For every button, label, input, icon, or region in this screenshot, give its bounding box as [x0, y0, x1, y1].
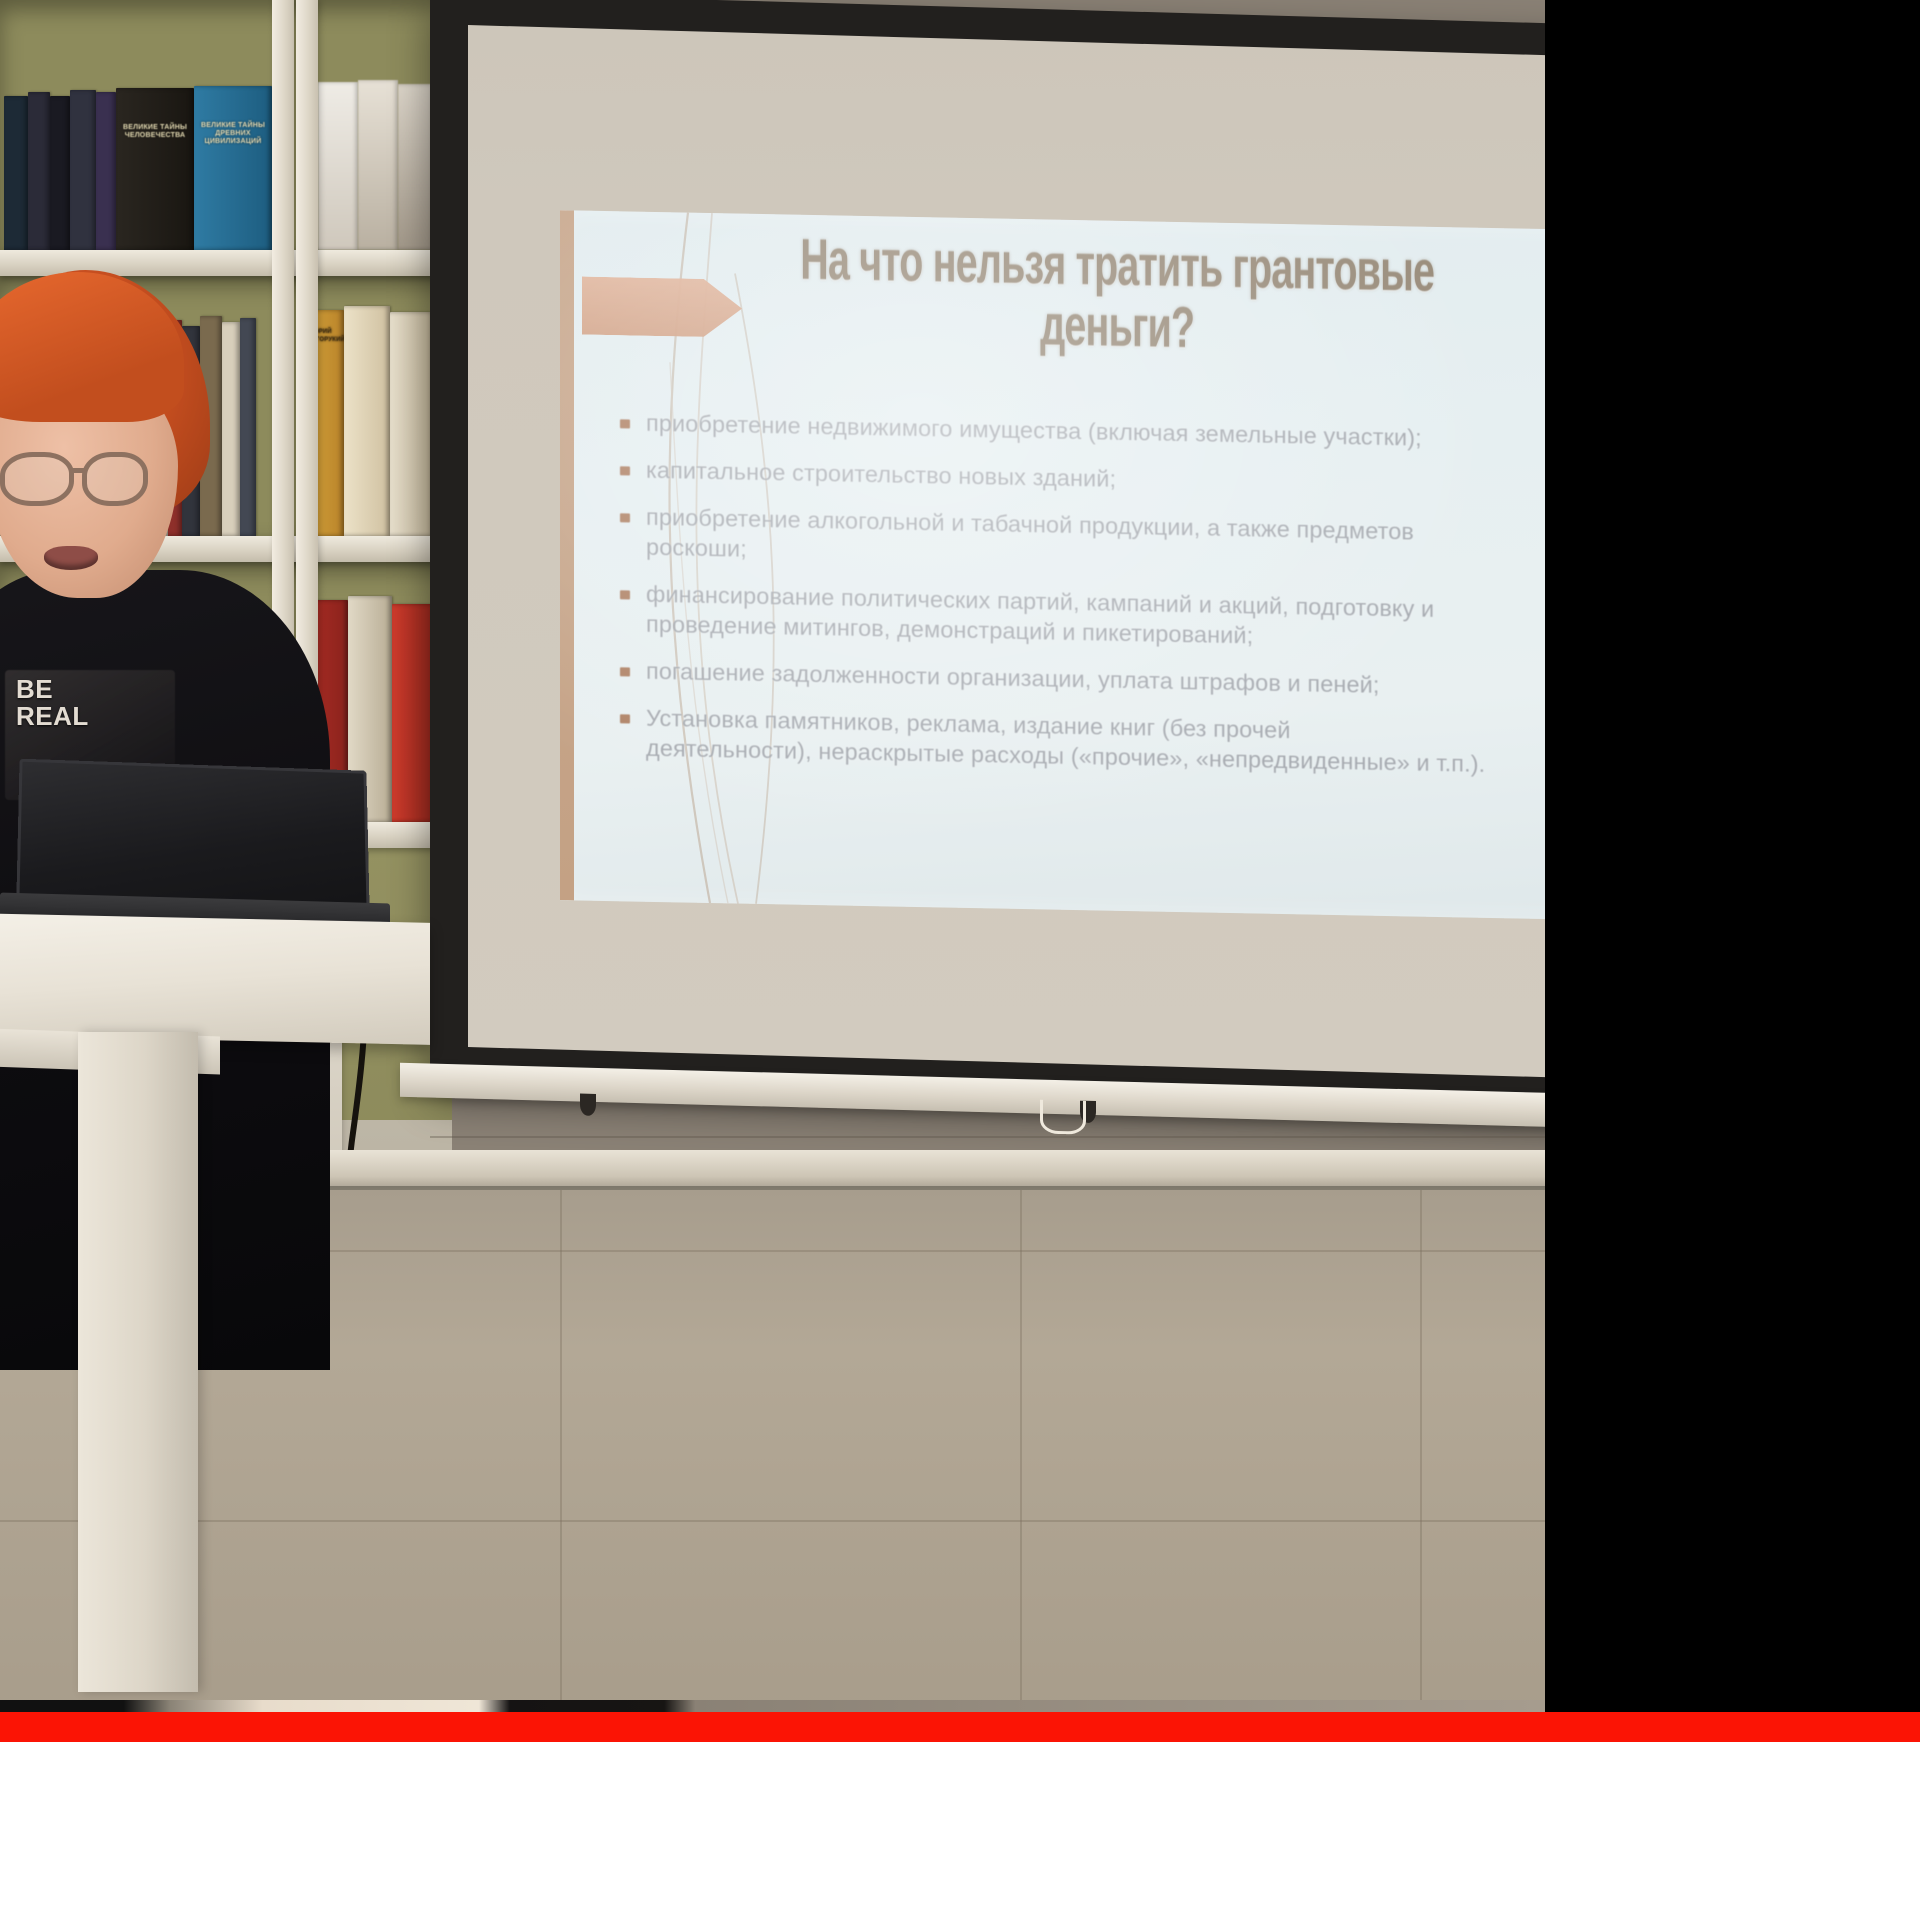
- book-spine-label: ВЕЛИКИЕ ТАЙНЫ ДРЕВНИХ ЦИВИЛИЗАЦИЙ: [198, 122, 268, 146]
- magazine: [318, 82, 358, 250]
- book: [50, 96, 70, 250]
- letterbox-right: [1545, 0, 1920, 1712]
- list-item-text: Установка памятников, реклама, издание к…: [646, 705, 1485, 777]
- list-item: Установка памятников, реклама, издание к…: [606, 702, 1545, 781]
- list-item: капитальное строительство новых зданий;: [606, 454, 1545, 503]
- bullet-marker-icon: [620, 466, 630, 475]
- projection-screen: На что нельзя тратить грантовые деньги? …: [430, 0, 1545, 1115]
- book-velikie-tayny-2: ВЕЛИКИЕ ТАЙНЫ ДРЕВНИХ ЦИВИЛИЗАЦИЙ: [194, 86, 272, 250]
- slide-title: На что нельзя тратить грантовые деньги?: [756, 228, 1478, 364]
- projected-slide: На что нельзя тратить грантовые деньги? …: [560, 210, 1545, 920]
- laptop-screen: [16, 759, 369, 911]
- podium-column: [78, 1032, 198, 1692]
- rail-knob: [580, 1094, 596, 1116]
- podium: [0, 770, 480, 1712]
- shirt-text: BE REAL: [16, 676, 89, 730]
- book: [4, 96, 28, 250]
- banner-accent-bar: [0, 1712, 1920, 1742]
- list-item-text: капитальное строительство новых зданий;: [646, 457, 1116, 492]
- bullet-marker-icon: [620, 419, 630, 428]
- speaker-hair-front: [0, 272, 184, 422]
- book: [344, 306, 390, 536]
- book: [70, 90, 96, 250]
- rail-ring: [1040, 1100, 1086, 1135]
- screen-surface: На что нельзя тратить грантовые деньги? …: [468, 25, 1545, 1078]
- bullet-marker-icon: [620, 667, 630, 676]
- slide-bullet-list: приобретение недвижимого имущества (вклю…: [606, 407, 1545, 798]
- podium-top-surface: [0, 913, 430, 1045]
- eyeglass-lens-right: [82, 452, 148, 506]
- book: [390, 312, 434, 536]
- list-item: финансирование политических партий, камп…: [606, 578, 1545, 657]
- list-item: приобретение алкогольной и табачной прод…: [606, 501, 1545, 580]
- book: [96, 92, 116, 250]
- bullet-marker-icon: [620, 590, 630, 599]
- magazine: [398, 84, 434, 250]
- book-velikie-tayny-1: ВЕЛИКИЕ ТАЙНЫ ЧЕЛОВЕЧЕСТВА: [116, 88, 194, 250]
- list-item-text: погашение задолженности организации, упл…: [646, 658, 1380, 698]
- banner-background: А СЕЛЬСКИХ ИНИЦИАТИВ: [0, 1742, 1920, 1920]
- list-item: погашение задолженности организации, упл…: [606, 655, 1545, 704]
- speaker-mouth: [44, 546, 98, 570]
- book: [28, 92, 50, 250]
- book-spine-label: ВЕЛИКИЕ ТАЙНЫ ЧЕЛОВЕЧЕСТВА: [120, 124, 190, 140]
- list-item-text: приобретение алкогольной и табачной прод…: [646, 504, 1414, 562]
- list-item-text: финансирование политических партий, камп…: [646, 581, 1434, 649]
- eyeglass-lens-left: [0, 452, 74, 506]
- screenshot-root: ВЕЛИКИЕ ТАЙНЫ ЧЕЛОВЕЧЕСТВА ВЕЛИКИЕ ТАЙНЫ…: [0, 0, 1920, 1920]
- video-frame: ВЕЛИКИЕ ТАЙНЫ ЧЕЛОВЕЧЕСТВА ВЕЛИКИЕ ТАЙНЫ…: [0, 0, 1545, 1712]
- bullet-marker-icon: [620, 714, 630, 723]
- video-bottom-strip: [0, 1700, 1545, 1712]
- eyeglasses-icon: [0, 452, 172, 508]
- magazine: [358, 80, 398, 250]
- bullet-marker-icon: [620, 513, 630, 522]
